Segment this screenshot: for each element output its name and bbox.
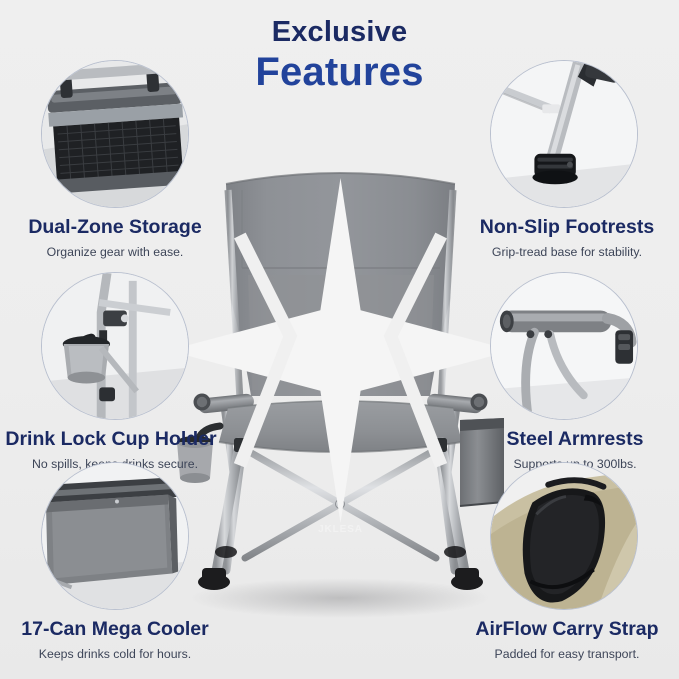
armrest-tube-photo (490, 272, 638, 420)
mesh-storage-pocket-photo (41, 60, 189, 208)
feature-title: Non-Slip Footrests (455, 217, 679, 238)
feature-subtitle: Grip-tread base for stability. (455, 245, 679, 260)
carry-bag-photo (490, 462, 638, 610)
feature-infographic: Exclusive Features (0, 0, 679, 679)
cup-holder-photo (41, 272, 189, 420)
chair-leg-foot-photo (490, 60, 638, 208)
feature-inset-wrap (490, 272, 638, 420)
feature-subtitle: Organize gear with ease. (0, 245, 230, 260)
feature-mega-cooler: 17-Can Mega Cooler Keeps drinks cold for… (0, 462, 230, 662)
feature-inset-wrap (41, 272, 189, 420)
feature-title: AirFlow Carry Strap (455, 619, 679, 640)
feature-subtitle: Padded for easy transport. (455, 647, 679, 662)
feature-subtitle: Keeps drinks cold for hours. (0, 647, 230, 662)
feature-inset-wrap (41, 462, 189, 610)
feature-title: Dual-Zone Storage (0, 217, 230, 238)
feature-title: Drink Lock Cup Holder (0, 429, 230, 450)
feature-title: Steel Armrests (471, 429, 679, 450)
feature-inset-wrap (41, 60, 189, 208)
feature-inset-wrap (490, 60, 638, 208)
feature-dual-zone-storage: Dual-Zone Storage Organize gear with eas… (0, 60, 230, 260)
cooler-pouch-photo (41, 462, 189, 610)
feature-steel-armrests: Steel Armrests Supports up to 300lbs. (449, 272, 679, 472)
feature-title: 17-Can Mega Cooler (0, 619, 230, 640)
feature-airflow-carry-strap: AirFlow Carry Strap Padded for easy tran… (449, 462, 679, 662)
feature-drink-lock-cup-holder: Drink Lock Cup Holder No spills, keeps d… (0, 272, 230, 472)
title-line-exclusive: Exclusive (0, 18, 679, 47)
feature-inset-wrap (490, 462, 638, 610)
feature-non-slip-footrests: Non-Slip Footrests Grip-tread base for s… (449, 60, 679, 260)
